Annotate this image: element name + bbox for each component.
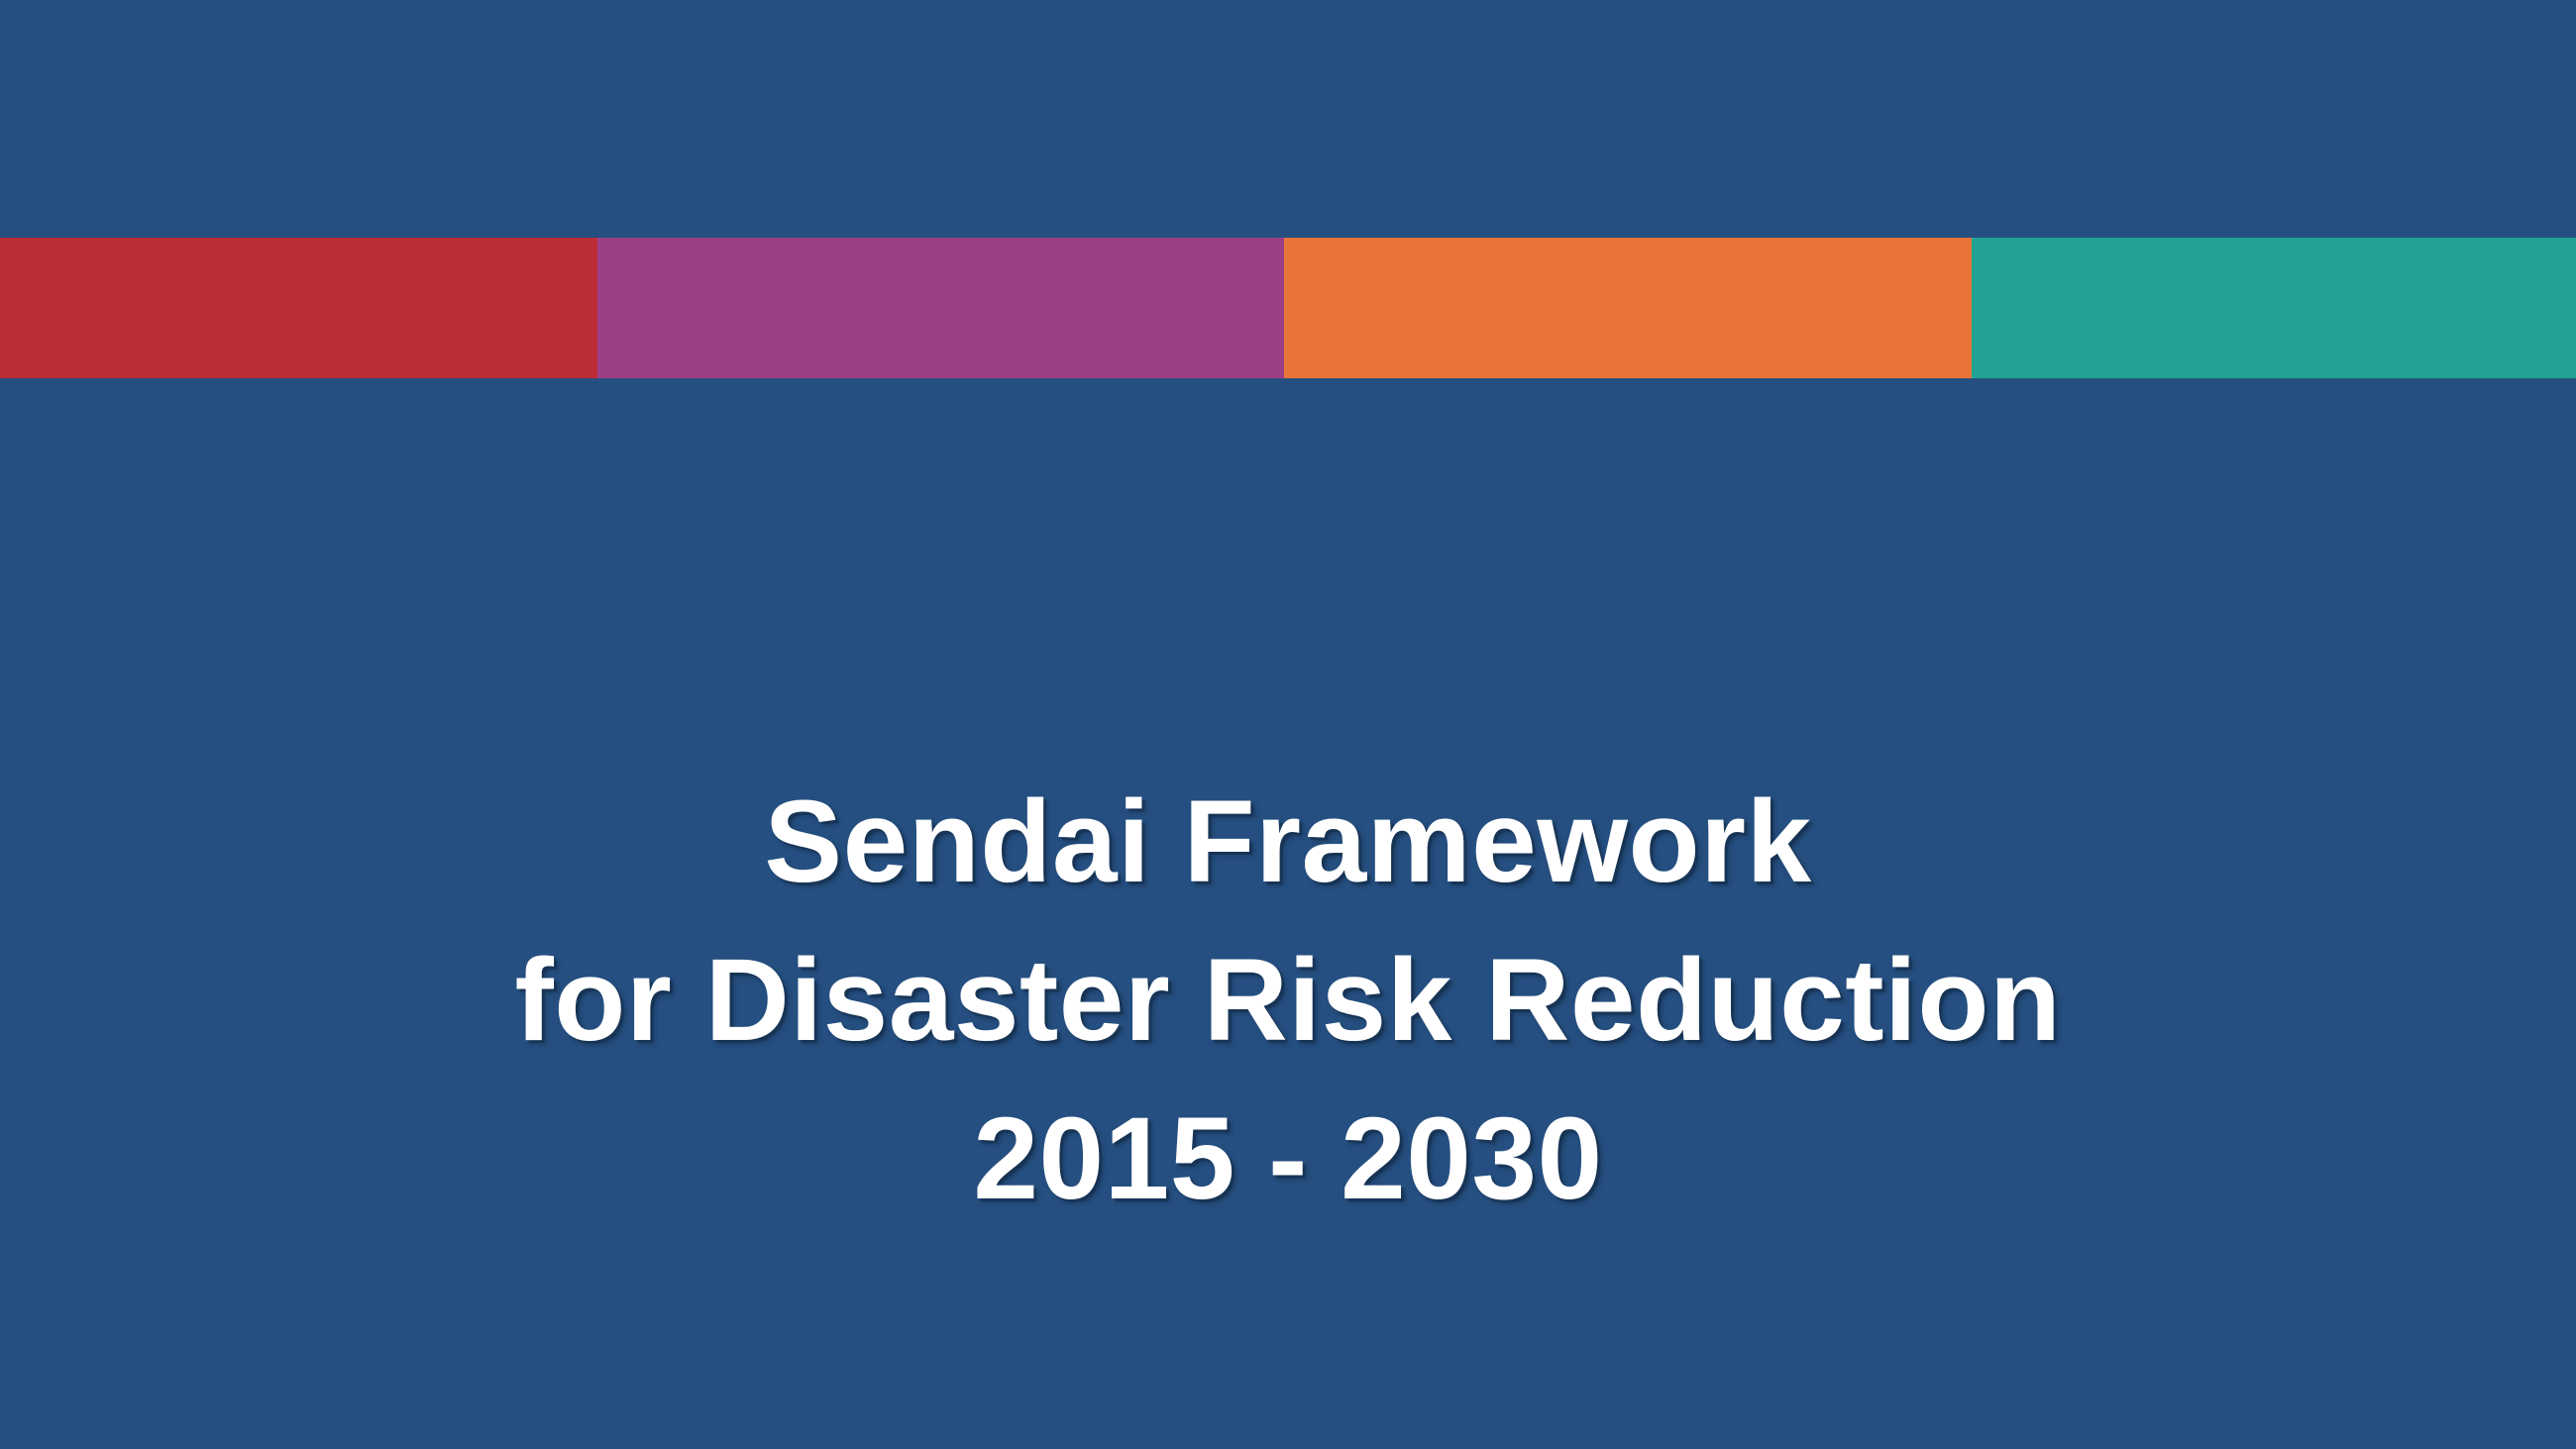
- accent-band-segment-red: [0, 238, 597, 378]
- slide-title-line-3: 2015 - 2030: [0, 1080, 2576, 1238]
- title-slide: Sendai Framework for Disaster Risk Reduc…: [0, 0, 2576, 1449]
- accent-band-segment-teal: [1972, 238, 2576, 378]
- accent-band-segment-orange: [1284, 238, 1972, 378]
- slide-title-line-2: for Disaster Risk Reduction: [0, 921, 2576, 1080]
- slide-title: Sendai Framework for Disaster Risk Reduc…: [0, 763, 2576, 1238]
- accent-band: [0, 238, 2576, 378]
- accent-band-segment-purple: [597, 238, 1284, 378]
- slide-title-line-1: Sendai Framework: [0, 763, 2576, 921]
